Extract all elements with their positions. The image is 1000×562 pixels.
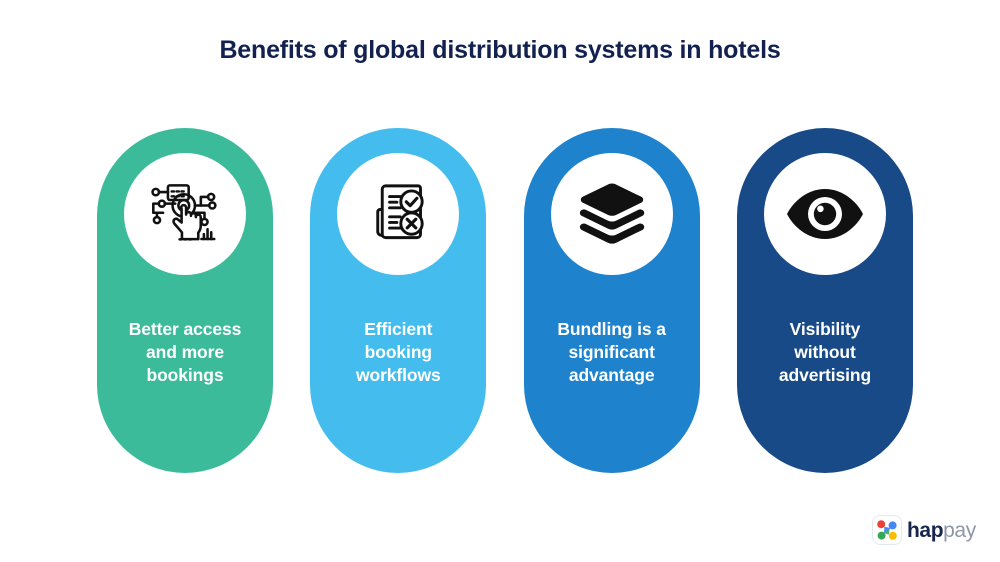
infographic-canvas: Benefits of global distribution systems …	[0, 0, 1000, 562]
happay-logo[interactable]: happay	[872, 511, 976, 549]
benefit-card-efficient-booking[interactable]: Efficient booking workflows	[310, 128, 486, 473]
label-line-3: advantage	[532, 364, 692, 387]
happay-logo-mark-icon	[872, 515, 902, 545]
benefit-cards-row: Better access and more bookings	[97, 128, 913, 473]
label-line-1: Visibility	[745, 318, 905, 341]
benefit-card-better-access[interactable]: Better access and more bookings	[97, 128, 273, 473]
label-line-3: bookings	[105, 364, 265, 387]
label-line-1: Efficient	[318, 318, 478, 341]
benefit-card-label: Bundling is a significant advantage	[532, 318, 692, 387]
label-line-2: booking	[318, 341, 478, 364]
label-line-1: Bundling is a	[532, 318, 692, 341]
benefit-card-label: Visibility without advertising	[745, 318, 905, 387]
logo-text-dark: hap	[907, 519, 943, 542]
happay-logo-text: happay	[907, 520, 976, 541]
benefit-card-visibility-without-advertising[interactable]: Visibility without advertising	[737, 128, 913, 473]
document-check-cross-icon	[362, 178, 434, 250]
icon-badge	[337, 153, 459, 275]
stacked-layers-icon	[574, 180, 650, 248]
label-line-2: significant	[532, 341, 692, 364]
label-line-2: without	[745, 341, 905, 364]
label-line-3: advertising	[745, 364, 905, 387]
label-line-2: and more	[105, 341, 265, 364]
icon-badge	[764, 153, 886, 275]
icon-badge	[551, 153, 673, 275]
benefit-card-bundling-advantage[interactable]: Bundling is a significant advantage	[524, 128, 700, 473]
logo-text-light: pay	[943, 519, 976, 542]
circuit-touch-icon	[146, 175, 224, 253]
benefit-card-label: Efficient booking workflows	[318, 318, 478, 387]
benefit-card-label: Better access and more bookings	[105, 318, 265, 387]
eye-icon	[783, 183, 867, 245]
label-line-3: workflows	[318, 364, 478, 387]
label-line-1: Better access	[105, 318, 265, 341]
icon-badge	[124, 153, 246, 275]
page-title: Benefits of global distribution systems …	[0, 36, 1000, 65]
